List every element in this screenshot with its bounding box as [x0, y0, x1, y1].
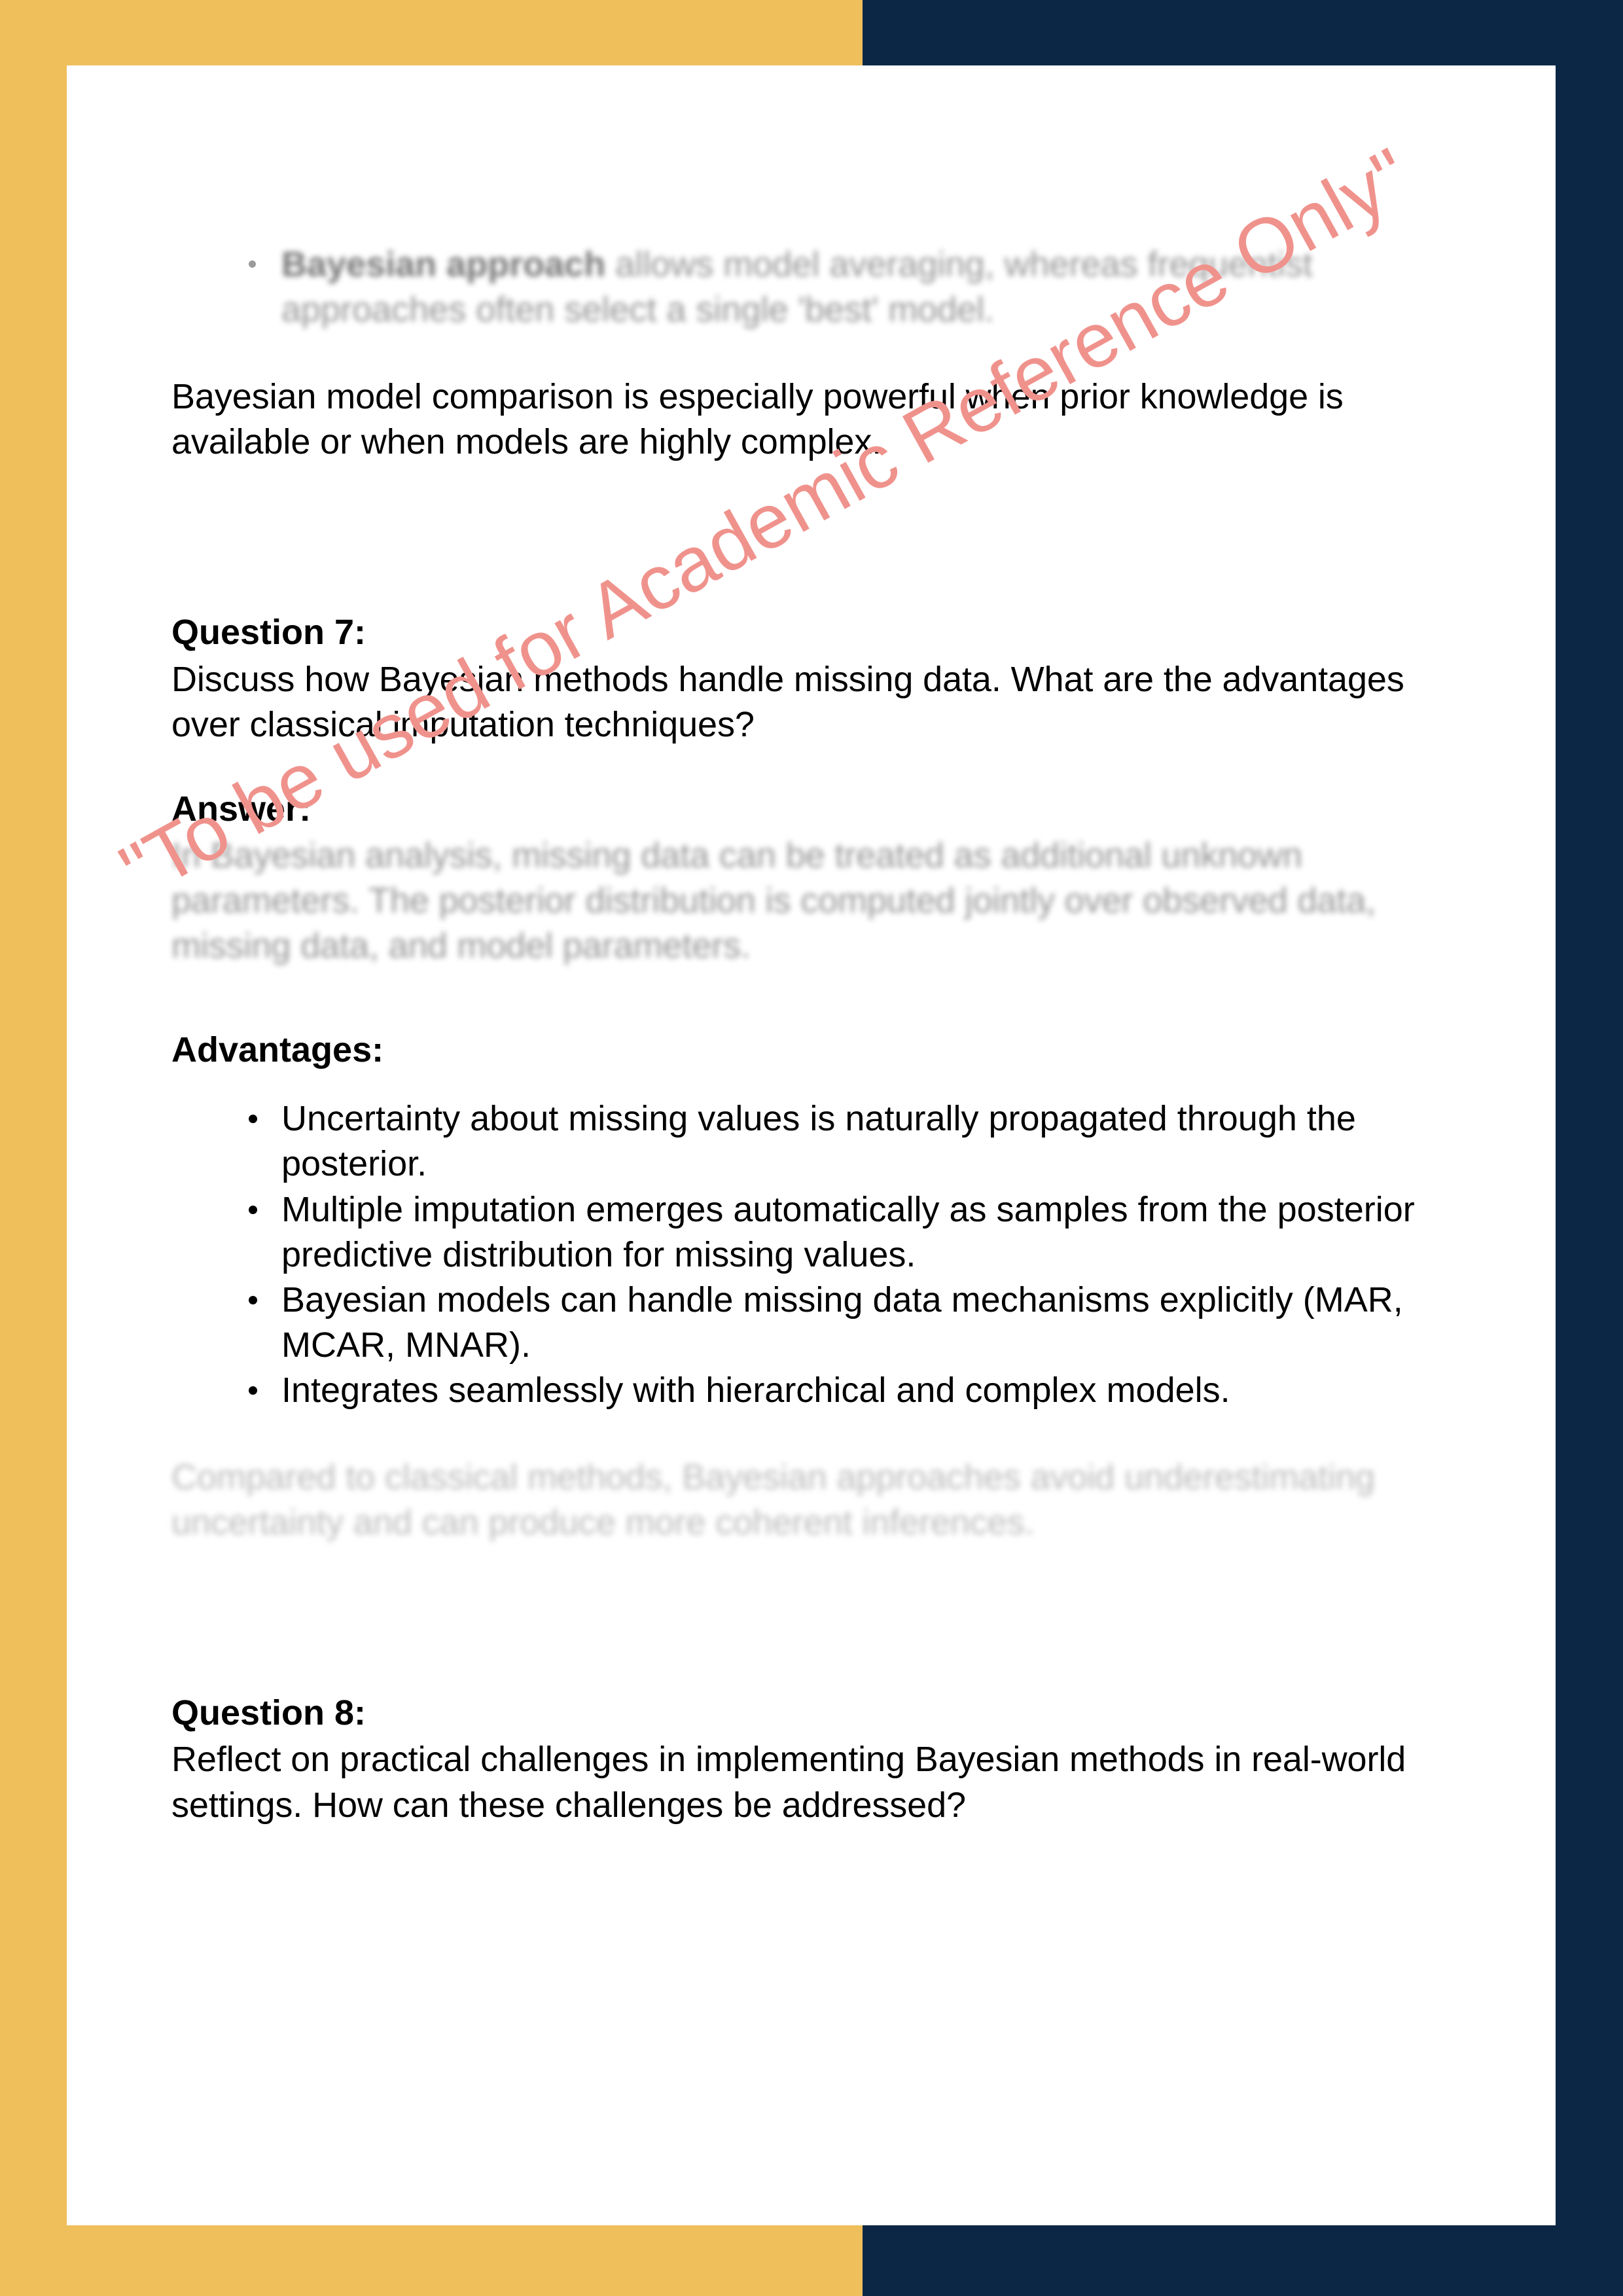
intro-paragraph: Bayesian model comparison is especially … [171, 374, 1415, 465]
list-item: Multiple imputation emerges automaticall… [243, 1187, 1415, 1278]
spacer [171, 482, 1415, 610]
carryover-bullet-text: Bayesian approach allows model averaging… [281, 245, 1313, 329]
document-content: Bayesian approach allows model averaging… [171, 242, 1415, 1845]
carryover-bullet-list: Bayesian approach allows model averaging… [171, 242, 1415, 332]
question-8-text: Reflect on practical challenges in imple… [171, 1737, 1415, 1827]
spacer [171, 764, 1415, 787]
document-page: Bayesian approach allows model averaging… [67, 65, 1556, 2225]
spacer [171, 986, 1415, 1028]
advantages-list: Uncertainty about missing values is natu… [171, 1096, 1415, 1413]
question-8-label: Question 8: [171, 1691, 1415, 1736]
spacer [171, 332, 1415, 374]
spacer [171, 1562, 1415, 1691]
question-7-label: Question 7: [171, 610, 1415, 655]
spacer [171, 1074, 1415, 1096]
carryover-bullet-lead: Bayesian approach [281, 245, 605, 284]
answer-body: In Bayesian analysis, missing data can b… [171, 833, 1415, 969]
advantages-label: Advantages: [171, 1028, 1415, 1073]
list-item: Bayesian approach allows model averaging… [243, 242, 1415, 332]
answer-label: Answer: [171, 787, 1415, 832]
spacer [171, 1413, 1415, 1455]
question-7-text: Discuss how Bayesian methods handle miss… [171, 657, 1415, 747]
list-item: Uncertainty about missing values is natu… [243, 1096, 1415, 1187]
list-item: Bayesian models can handle missing data … [243, 1278, 1415, 1368]
list-item: Integrates seamlessly with hierarchical … [243, 1368, 1415, 1413]
closing-paragraph: Compared to classical methods, Bayesian … [171, 1455, 1415, 1545]
